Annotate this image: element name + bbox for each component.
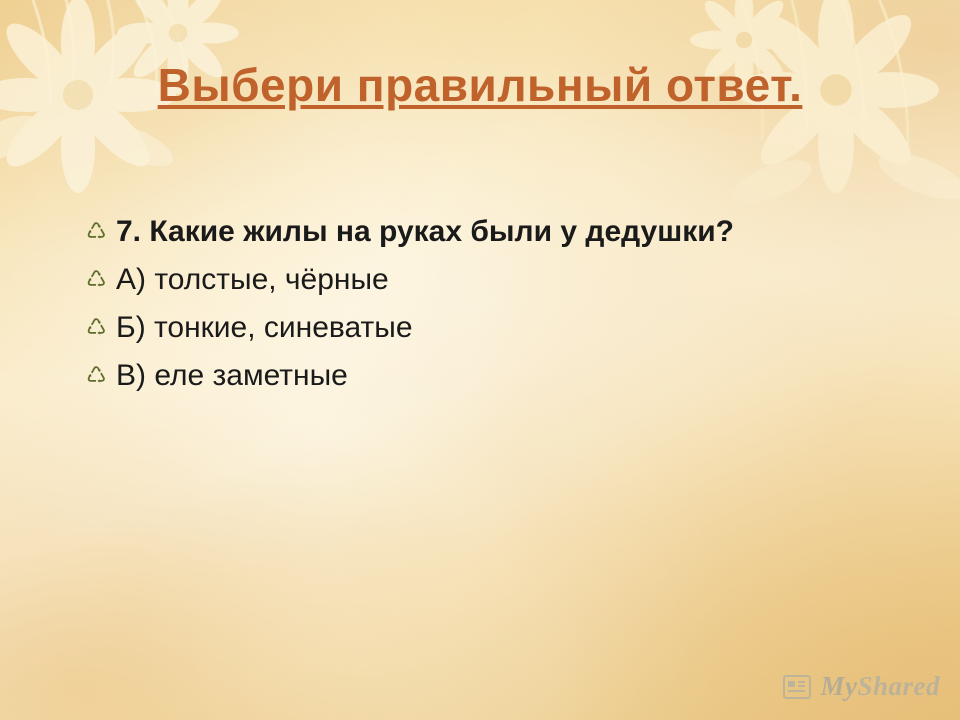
question-text: 7. Какие жилы на руках были у дедушки?	[116, 210, 734, 254]
watermark-text: MyShared	[820, 671, 940, 702]
option-a-text: А) толстые, чёрные	[116, 258, 389, 302]
answer-list: ♺ 7. Какие жилы на руках были у дедушки?…	[86, 210, 886, 402]
watermark-my: My	[820, 671, 857, 701]
option-v-text: В) еле заметные	[116, 354, 348, 398]
bullet-icon: ♺	[86, 354, 116, 398]
bullet-icon: ♺	[86, 258, 116, 302]
list-item-question: ♺ 7. Какие жилы на руках были у дедушки?	[86, 210, 886, 254]
list-item-option-b[interactable]: ♺ Б) тонкие, синеватые	[86, 306, 886, 350]
slide-canvas: Выбери правильный ответ. ♺ 7. Какие жилы…	[0, 0, 960, 720]
myshared-watermark: MyShared	[782, 671, 940, 702]
option-b-text: Б) тонкие, синеватые	[116, 306, 413, 350]
bullet-icon: ♺	[86, 210, 116, 254]
slide-title: Выбери правильный ответ.	[120, 58, 840, 112]
watermark-shared: Shared	[857, 671, 940, 701]
myshared-logo-icon	[782, 672, 812, 702]
bullet-icon: ♺	[86, 306, 116, 350]
list-item-option-a[interactable]: ♺ А) толстые, чёрные	[86, 258, 886, 302]
list-item-option-v[interactable]: ♺ В) еле заметные	[86, 354, 886, 398]
